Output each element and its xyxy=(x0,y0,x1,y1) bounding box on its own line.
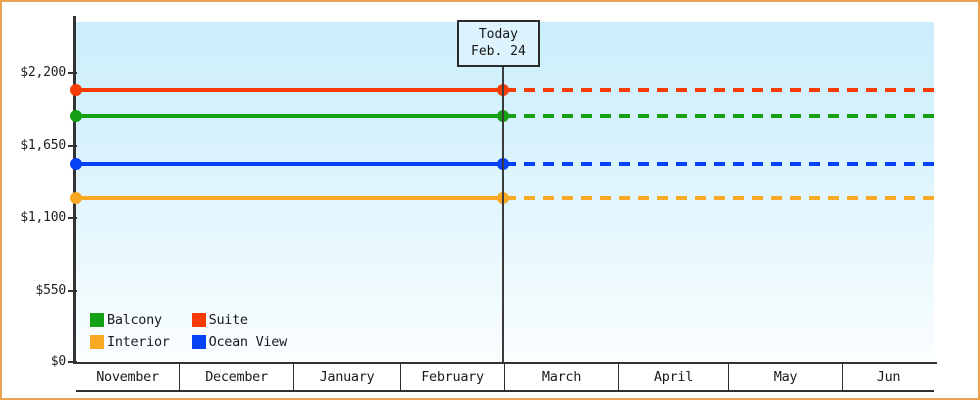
legend-label-interior: Interior xyxy=(107,334,170,350)
series-line-balcony-forecast xyxy=(505,114,934,118)
x-axis-month-december[interactable]: December xyxy=(180,364,294,390)
series-marker-interior-start xyxy=(70,192,82,204)
legend-swatch-icon-balcony xyxy=(90,313,104,327)
legend-swatch-icon-ocean-view xyxy=(192,335,206,349)
legend-swatch-icon-suite xyxy=(192,313,206,327)
series-line-balcony-actual xyxy=(76,114,503,118)
x-axis-month-may[interactable]: May xyxy=(729,364,843,390)
today-vertical-line xyxy=(502,60,504,362)
legend-item-suite[interactable]: Suite xyxy=(192,312,287,328)
x-axis-month-january[interactable]: January xyxy=(294,364,401,390)
today-label: Today xyxy=(471,26,526,43)
y-tick-label-0: $0 xyxy=(2,354,66,369)
x-axis-month-march[interactable]: March xyxy=(505,364,619,390)
y-tick-label-2200: $2,200 xyxy=(2,65,66,80)
price-forecast-chart: $2,200 $1,650 $1,100 $550 $0 Today Feb. … xyxy=(0,0,980,400)
legend-swatch-icon-interior xyxy=(90,335,104,349)
legend-item-ocean-view[interactable]: Ocean View xyxy=(192,334,287,350)
x-axis-month-jun[interactable]: Jun xyxy=(843,364,934,390)
y-tick-1650 xyxy=(68,145,77,147)
legend-label-balcony: Balcony xyxy=(107,312,162,328)
today-annotation-box: Today Feb. 24 xyxy=(457,20,540,67)
series-line-interior-forecast xyxy=(505,196,934,200)
chart-legend: Balcony Suite Interior Ocean View xyxy=(90,312,287,350)
legend-label-suite: Suite xyxy=(209,312,248,328)
y-axis xyxy=(73,16,76,364)
x-axis-month-strip: November December January February March… xyxy=(76,364,934,392)
y-tick-label-550: $550 xyxy=(2,283,66,298)
series-line-suite-actual xyxy=(76,88,503,92)
series-marker-ocean-view-start xyxy=(70,158,82,170)
y-tick-label-1100: $1,100 xyxy=(2,210,66,225)
x-axis-month-february[interactable]: February xyxy=(401,364,505,390)
y-tick-2200 xyxy=(68,72,77,74)
series-marker-balcony-start xyxy=(70,110,82,122)
series-line-suite-forecast xyxy=(505,88,934,92)
series-line-ocean-view-actual xyxy=(76,162,503,166)
legend-label-ocean-view: Ocean View xyxy=(209,334,287,350)
y-tick-550 xyxy=(68,290,77,292)
today-date: Feb. 24 xyxy=(471,43,526,60)
x-axis-month-november[interactable]: November xyxy=(76,364,180,390)
series-line-ocean-view-forecast xyxy=(505,162,934,166)
y-tick-label-1650: $1,650 xyxy=(2,138,66,153)
series-marker-suite-start xyxy=(70,84,82,96)
x-axis-month-april[interactable]: April xyxy=(619,364,729,390)
legend-item-interior[interactable]: Interior xyxy=(90,334,170,350)
y-tick-1100 xyxy=(68,217,77,219)
legend-item-balcony[interactable]: Balcony xyxy=(90,312,170,328)
series-line-interior-actual xyxy=(76,196,503,200)
